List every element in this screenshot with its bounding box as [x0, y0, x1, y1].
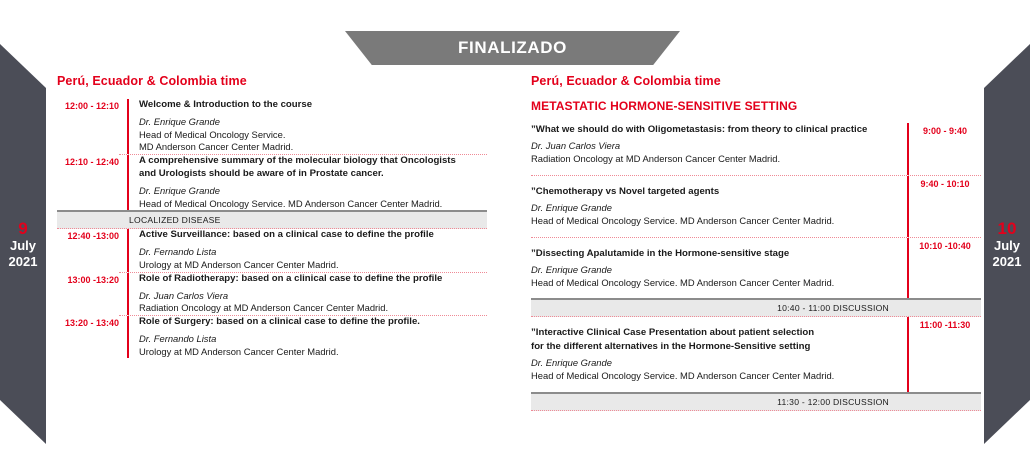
agenda-row-time: 11:00 -11:30 — [909, 317, 981, 391]
agenda-row-affiliation: Radiation Oncology at MD Anderson Cancer… — [139, 302, 487, 315]
discussion-bar-label: 10:40 - 11:00 DISCUSSION — [777, 303, 889, 313]
agenda-row-affiliation: Head of Medical Oncology Service. — [139, 129, 487, 142]
date-tab-left-day: 9 — [18, 219, 27, 239]
section-bar-localized-disease: LOCALIZED DISEASE — [57, 210, 487, 229]
date-tab-right-year: 2021 — [993, 254, 1022, 270]
agenda-row-speaker: Dr. Enrique Grande — [531, 202, 897, 215]
agenda-row[interactable]: 12:40 -13:00 Active Surveillance: based … — [57, 229, 487, 271]
agenda-row-time: 12:10 - 12:40 — [57, 155, 127, 210]
agenda-row-affiliation-2: MD Anderson Cancer Center Madrid. — [139, 141, 487, 154]
agenda-column-day-9: Perú, Ecuador & Colombia time 12:00 - 12… — [57, 74, 487, 358]
discussion-bar: 10:40 - 11:00 DISCUSSION — [531, 298, 981, 317]
agenda-row-speaker: Dr. Enrique Grande — [531, 264, 897, 277]
date-tab-day-9: 9 July 2021 — [0, 44, 46, 444]
agenda-row[interactable]: ”Dissecting Apalutamide in the Hormone-s… — [531, 238, 981, 299]
date-tab-right-month: July — [994, 238, 1020, 254]
agenda-row-body: Welcome & Introduction to the course Dr.… — [127, 99, 487, 154]
right-column-heading: Perú, Ecuador & Colombia time — [531, 74, 981, 88]
agenda-column-day-10: Perú, Ecuador & Colombia time METASTATIC… — [531, 74, 981, 411]
agenda-row-title-2: for the different alternatives in the Ho… — [531, 340, 897, 353]
agenda-row[interactable]: 12:10 - 12:40 A comprehensive summary of… — [57, 155, 487, 210]
agenda-row-title: Role of Radiotherapy: based on a clinica… — [139, 273, 487, 286]
date-tab-left-month: July — [10, 238, 36, 254]
date-tab-day-10: 10 July 2021 — [984, 44, 1030, 444]
agenda-row-time: 12:40 -13:00 — [57, 229, 127, 271]
agenda-row-affiliation: Urology at MD Anderson Cancer Center Mad… — [139, 259, 487, 272]
agenda-row-body: ”Chemotherapy vs Novel targeted agents D… — [531, 176, 909, 237]
agenda-row-title: ”Interactive Clinical Case Presentation … — [531, 326, 897, 339]
agenda-row[interactable]: 13:20 - 13:40 Role of Surgery: based on … — [57, 316, 487, 358]
agenda-row-body: ”Dissecting Apalutamide in the Hormone-s… — [531, 238, 909, 299]
discussion-bar: 11:30 - 12:00 DISCUSSION — [531, 392, 981, 411]
agenda-row-time: 10:10 -10:40 — [909, 238, 981, 299]
agenda-row-title: ”What we should do with Oligometastasis:… — [531, 123, 897, 136]
agenda-row-speaker: Dr. Enrique Grande — [531, 357, 897, 370]
agenda-row-title: Role of Surgery: based on a clinical cas… — [139, 316, 487, 329]
agenda-row-title: ”Chemotherapy vs Novel targeted agents — [531, 185, 897, 198]
status-banner: FINALIZADO — [345, 31, 680, 65]
agenda-row-time: 13:20 - 13:40 — [57, 316, 127, 358]
agenda-row-affiliation: Head of Medical Oncology Service. MD And… — [531, 370, 897, 383]
agenda-row-title: A comprehensive summary of the molecular… — [139, 155, 487, 168]
agenda-row-body: Role of Surgery: based on a clinical cas… — [127, 316, 487, 358]
agenda-row-body: ”What we should do with Oligometastasis:… — [531, 123, 909, 175]
agenda-row-speaker: Dr. Juan Carlos Viera — [139, 290, 487, 303]
agenda-row-time: 12:00 - 12:10 — [57, 99, 127, 154]
agenda-row-title-2: and Urologists should be aware of in Pro… — [139, 168, 487, 181]
left-column-heading: Perú, Ecuador & Colombia time — [57, 74, 487, 88]
agenda-row[interactable]: ”Interactive Clinical Case Presentation … — [531, 317, 981, 391]
agenda-row-time: 13:00 -13:20 — [57, 273, 127, 315]
agenda-row-affiliation: Urology at MD Anderson Cancer Center Mad… — [139, 346, 487, 359]
status-banner-label: FINALIZADO — [458, 38, 567, 58]
agenda-row[interactable]: ”What we should do with Oligometastasis:… — [531, 123, 981, 175]
agenda-row-speaker: Dr. Juan Carlos Viera — [531, 140, 897, 153]
agenda-row-time: 9:40 - 10:10 — [909, 176, 981, 237]
agenda-row-affiliation: Radiation Oncology at MD Anderson Cancer… — [531, 153, 897, 166]
agenda-row-speaker: Dr. Fernando Lista — [139, 333, 487, 346]
agenda-row[interactable]: ”Chemotherapy vs Novel targeted agents D… — [531, 176, 981, 237]
right-column-section-heading: METASTATIC HORMONE-SENSITIVE SETTING — [531, 99, 981, 113]
date-tab-left-year: 2021 — [9, 254, 38, 270]
section-bar-label: LOCALIZED DISEASE — [129, 215, 221, 225]
agenda-row-title: Welcome & Introduction to the course — [139, 99, 487, 112]
agenda-row-affiliation: Head of Medical Oncology Service. MD And… — [531, 215, 897, 228]
agenda-row-speaker: Dr. Fernando Lista — [139, 246, 487, 259]
discussion-bar-label: 11:30 - 12:00 DISCUSSION — [777, 397, 889, 407]
agenda-row-speaker: Dr. Enrique Grande — [139, 116, 487, 129]
agenda-row-body: A comprehensive summary of the molecular… — [127, 155, 487, 210]
agenda-row[interactable]: 13:00 -13:20 Role of Radiotherapy: based… — [57, 273, 487, 315]
agenda-row-speaker: Dr. Enrique Grande — [139, 185, 487, 198]
agenda-row-body: ”Interactive Clinical Case Presentation … — [531, 317, 909, 391]
agenda-row-time: 9:00 - 9:40 — [909, 123, 981, 175]
agenda-row-affiliation: Head of Medical Oncology Service. MD And… — [531, 277, 897, 290]
agenda-row-body: Role of Radiotherapy: based on a clinica… — [127, 273, 487, 315]
agenda-row-title: ”Dissecting Apalutamide in the Hormone-s… — [531, 247, 897, 260]
agenda-row-affiliation: Head of Medical Oncology Service. MD And… — [139, 198, 487, 211]
agenda-row-body: Active Surveillance: based on a clinical… — [127, 229, 487, 271]
agenda-row[interactable]: 12:00 - 12:10 Welcome & Introduction to … — [57, 99, 487, 154]
agenda-row-title: Active Surveillance: based on a clinical… — [139, 229, 487, 242]
date-tab-right-day: 10 — [998, 219, 1017, 239]
